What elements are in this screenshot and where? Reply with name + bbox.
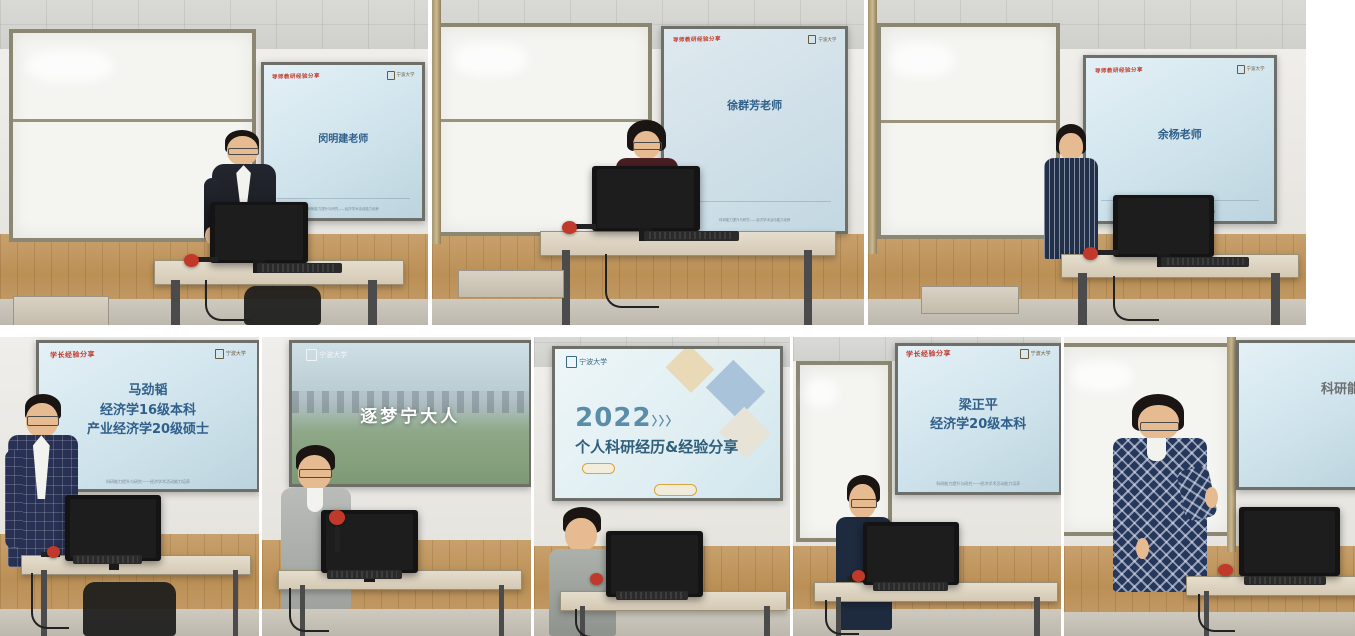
projector-screen: 科研能 xyxy=(1236,340,1355,490)
wall-column xyxy=(868,0,877,254)
photo-3: 导师教研经验分享 宁波大学 余杨老师 科研能力提升与研究——经济学术活动能力培养 xyxy=(868,0,1306,325)
cable xyxy=(575,609,608,636)
equipment-tray xyxy=(458,270,564,298)
glasses-icon xyxy=(299,469,332,478)
cable xyxy=(205,280,250,321)
photo-5: 宁波大学 逐梦宁大人 xyxy=(262,337,531,636)
glasses-icon xyxy=(27,416,58,426)
desk-leg xyxy=(233,570,238,636)
whiteboard-divider xyxy=(13,119,253,122)
desk-leg xyxy=(764,606,769,636)
university-logo: 宁波大学 xyxy=(1020,349,1051,359)
microphone xyxy=(562,221,577,234)
keyboard xyxy=(644,231,739,241)
bottom-row: 学长经验分享 宁波大学 马劲韬 经济学16级本科 产业经济学20级硕士 科研能力… xyxy=(0,337,1355,636)
slide-header: 导师教研经验分享 xyxy=(272,72,320,81)
equipment-tray xyxy=(13,296,109,325)
slide-footer: 科研能力提升与研究——经济学术活动能力培养 xyxy=(898,481,1059,487)
crest-icon xyxy=(387,71,395,80)
photo-8: 科研能 xyxy=(1064,337,1355,636)
left-hand xyxy=(1136,538,1149,559)
slide-title: 逐梦宁大人 xyxy=(292,402,529,427)
university-logo: 宁波大学 xyxy=(1237,65,1265,74)
projector-screen: 导师教研经验分享 宁波大学 闵明建老师 科研能力提升与研究——经济学术活动能力培… xyxy=(261,62,425,221)
monitor xyxy=(65,495,161,561)
shirt xyxy=(307,488,322,512)
slide-title: 余杨老师 xyxy=(1086,127,1274,144)
crest-icon xyxy=(215,349,224,359)
slide-title: 闵明建老师 xyxy=(264,132,422,147)
university-logo: 宁波大学 xyxy=(387,71,415,80)
cable xyxy=(605,254,659,308)
projector-screen: 宁波大学 2022 〉〉〉 个人科研经历&经验分享 xyxy=(552,346,783,502)
crest-icon xyxy=(566,356,577,368)
whiteboard xyxy=(877,23,1060,239)
cable xyxy=(1113,276,1159,320)
head xyxy=(1059,133,1083,160)
decor-pill xyxy=(582,463,616,474)
cable xyxy=(289,588,329,632)
cable xyxy=(31,573,69,629)
university-logo: 宁波大学 xyxy=(306,349,347,361)
university-name: 宁波大学 xyxy=(1031,350,1051,357)
crest-icon xyxy=(1020,349,1029,359)
university-name: 宁波大学 xyxy=(226,350,246,357)
right-margin xyxy=(1306,0,1355,325)
photo-7: 学长经验分享 宁波大学 梁正平 经济学20级本科 科研能力提升与研究——经济学术… xyxy=(793,337,1061,636)
keyboard xyxy=(257,263,343,273)
desk-leg xyxy=(368,280,377,326)
speaker xyxy=(1043,124,1100,261)
university-logo: 宁波大学 xyxy=(808,35,836,44)
university-logo: 宁波大学 xyxy=(566,356,607,368)
glasses-icon xyxy=(1140,422,1179,431)
desk-leg xyxy=(1271,273,1280,325)
desk-leg xyxy=(1034,597,1039,636)
microphone xyxy=(47,546,60,558)
keyboard xyxy=(1161,257,1249,267)
crest-icon xyxy=(808,35,816,44)
photo-collage-page: 导师教研经验分享 宁波大学 闵明建老师 科研能力提升与研究——经济学术活动能力培… xyxy=(0,0,1355,636)
slide-rule xyxy=(277,198,410,199)
photo-4: 学长经验分享 宁波大学 马劲韬 经济学16级本科 产业经济学20级硕士 科研能力… xyxy=(0,337,259,636)
monitor xyxy=(606,531,703,597)
left-arm xyxy=(5,450,23,548)
monitor xyxy=(210,202,308,264)
slide-title: 徐群芳老师 xyxy=(664,98,845,115)
slide-year: 2022 xyxy=(575,403,651,433)
microphone xyxy=(1218,564,1233,576)
microphone-stem xyxy=(335,522,340,552)
keyboard xyxy=(73,555,143,564)
keyboard xyxy=(327,570,402,579)
slide-title: 个人科研经历&经验分享 xyxy=(575,436,738,457)
equipment-tray xyxy=(921,286,1019,314)
desk-leg xyxy=(1078,273,1087,325)
desk-leg xyxy=(804,250,813,325)
crest-icon xyxy=(1237,65,1245,74)
desk-leg xyxy=(171,280,180,326)
chair xyxy=(83,582,176,636)
chair xyxy=(244,286,321,325)
shirt xyxy=(1147,438,1166,461)
photo-1: 导师教研经验分享 宁波大学 闵明建老师 科研能力提升与研究——经济学术活动能力培… xyxy=(0,0,428,325)
desk-leg xyxy=(499,585,504,636)
top-row: 导师教研经验分享 宁波大学 闵明建老师 科研能力提升与研究——经济学术活动能力培… xyxy=(0,0,1355,325)
right-hand xyxy=(1205,487,1218,508)
keyboard xyxy=(873,582,948,591)
cable xyxy=(1198,594,1235,632)
slide-header: 导师教研经验分享 xyxy=(1095,66,1143,75)
glasses-icon xyxy=(228,148,259,156)
projector-screen: 学长经验分享 宁波大学 梁正平 经济学20级本科 科研能力提升与研究——经济学术… xyxy=(895,343,1061,496)
decor-pill xyxy=(654,484,697,496)
glasses-icon xyxy=(851,499,878,507)
wall-column xyxy=(1227,337,1236,552)
slide-title: 梁正平 经济学20级本科 xyxy=(898,396,1059,435)
photo-2: 导师教研经验分享 宁波大学 徐群芳老师 科研能力提升与研究——经济学术活动能力培… xyxy=(432,0,864,325)
keyboard xyxy=(1244,576,1325,585)
slide-header: 学长经验分享 xyxy=(906,348,951,359)
wall-column xyxy=(432,0,441,244)
monitor xyxy=(592,166,700,231)
slide-rule xyxy=(678,201,830,202)
monitor xyxy=(863,522,959,585)
microphone xyxy=(184,254,199,267)
microphone xyxy=(1083,247,1098,260)
keyboard xyxy=(616,591,688,600)
torso xyxy=(1044,158,1098,259)
cable xyxy=(825,600,859,635)
glasses-icon xyxy=(633,142,661,149)
slide-arrows: 〉〉〉 xyxy=(652,412,679,429)
monitor xyxy=(1239,507,1341,576)
university-name: 宁波大学 xyxy=(319,350,347,360)
university-name: 宁波大学 xyxy=(818,37,836,43)
head xyxy=(565,518,597,551)
slide-header: 学长经验分享 xyxy=(50,350,95,361)
slide-title: 科研能 xyxy=(1321,380,1355,400)
crest-icon xyxy=(306,349,317,361)
slide-header: 导师教研经验分享 xyxy=(673,34,721,43)
university-name: 宁波大学 xyxy=(397,72,415,78)
whiteboard-divider xyxy=(881,120,1056,123)
monitor xyxy=(1113,195,1214,257)
university-name: 宁波大学 xyxy=(1247,66,1265,72)
photo-6: 宁波大学 2022 〉〉〉 个人科研经历&经验分享 xyxy=(534,337,790,636)
university-name: 宁波大学 xyxy=(579,357,607,367)
university-logo: 宁波大学 xyxy=(215,349,246,359)
